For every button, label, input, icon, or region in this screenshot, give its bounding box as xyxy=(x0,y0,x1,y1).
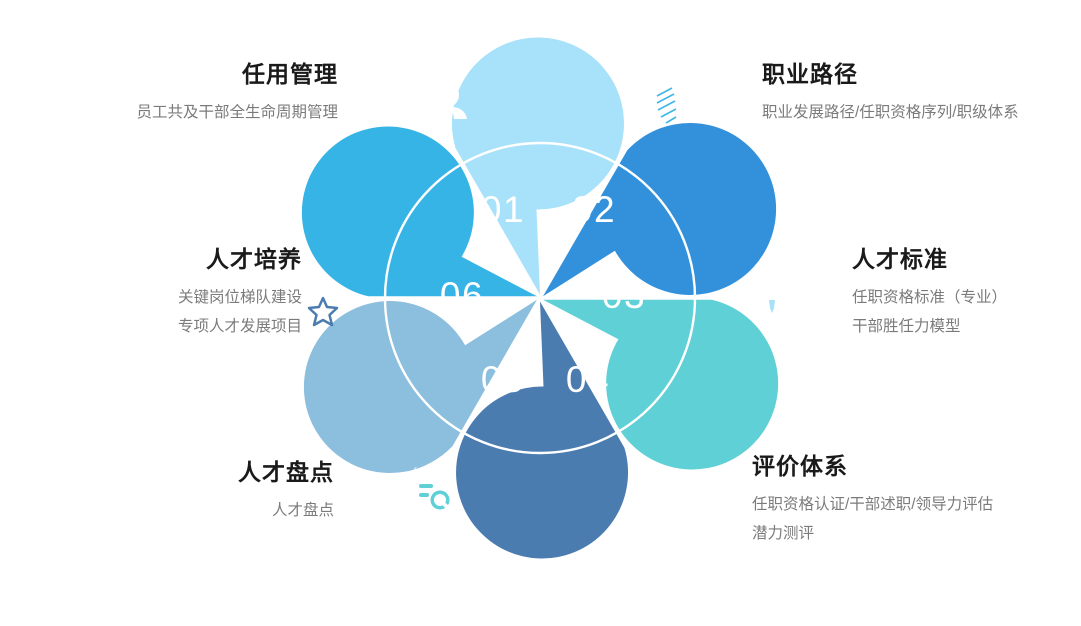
label-title-05: 人才盘点 xyxy=(4,458,334,487)
label-block-06: 人才培养 关键岗位梯队建设 专项人才发展项目 xyxy=(0,245,302,342)
petal-number-03: 03 xyxy=(602,275,646,316)
label-block-05: 人才盘点 人才盘点 xyxy=(4,458,334,525)
talent-management-infographic: 01 02 03 04 05 06 任用管理 员工共及干部全生命周期管理 职业路… xyxy=(0,0,1081,626)
label-block-04: 评价体系 任职资格认证/干部述职/领导力评估 潜力测评 xyxy=(752,452,1081,549)
label-subtitle-02-0: 职业发展路径/任职资格序列/职级体系 xyxy=(762,98,1081,127)
label-subtitle-04-0: 任职资格认证/干部述职/领导力评估 xyxy=(752,490,1081,519)
icon-slot-03 xyxy=(751,273,793,317)
label-title-02: 职业路径 xyxy=(762,60,1081,89)
label-block-03: 人才标准 任职资格标准（专业） 干部胜任力模型 xyxy=(852,245,1081,342)
label-subtitle-03-0: 任职资格标准（专业） xyxy=(852,283,1081,312)
label-subtitle-03-1: 干部胜任力模型 xyxy=(852,312,1081,341)
label-subtitle-01-0: 员工共及干部全生命周期管理 xyxy=(8,98,338,127)
label-block-01: 任用管理 员工共及干部全生命周期管理 xyxy=(8,60,338,127)
label-subtitle-05-0: 人才盘点 xyxy=(4,496,334,525)
label-title-04: 评价体系 xyxy=(752,452,1081,481)
petal-number-05: 05 xyxy=(481,359,525,400)
petal-number-02: 02 xyxy=(572,189,616,230)
label-title-06: 人才培养 xyxy=(0,245,302,274)
icon-slot-02 xyxy=(653,76,677,126)
label-subtitle-04-1: 潜力测评 xyxy=(752,519,1081,548)
icon-slot-05 xyxy=(414,467,454,515)
petal-number-04: 04 xyxy=(566,359,610,400)
petal-number-01: 01 xyxy=(481,189,525,230)
label-block-02: 职业路径 职业发展路径/任职资格序列/职级体系 xyxy=(762,60,1081,127)
label-subtitle-06-1: 专项人才发展项目 xyxy=(0,312,302,341)
label-title-03: 人才标准 xyxy=(852,245,1081,274)
petal-number-06: 06 xyxy=(440,275,484,316)
label-title-01: 任用管理 xyxy=(8,60,338,89)
label-subtitle-06-0: 关键岗位梯队建设 xyxy=(0,283,302,312)
icon-slot-04 xyxy=(641,471,688,513)
